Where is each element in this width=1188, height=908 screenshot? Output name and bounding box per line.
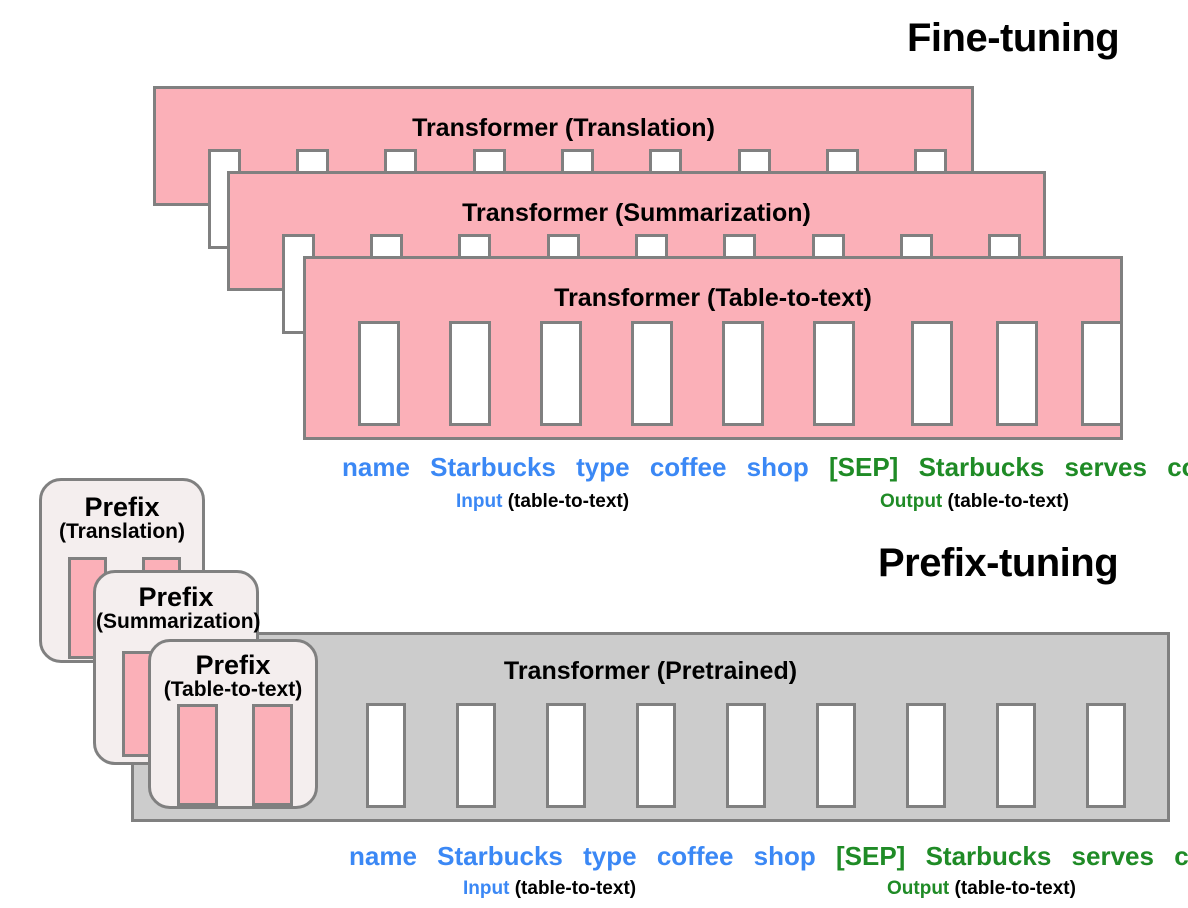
caption-input-rest: (table-to-text) (509, 878, 636, 899)
transformer-block-summarization-label: Transformer (Summarization) (230, 199, 1043, 228)
caption-output-rest: (table-to-text) (949, 878, 1076, 899)
transformer-block-translation-label: Transformer (Translation) (156, 114, 971, 143)
token-output: serves (1065, 452, 1147, 482)
caption-output-keyword: Output (887, 878, 949, 899)
prefix-task: (Translation) (42, 521, 202, 543)
activation-bar (816, 703, 856, 808)
caption-input-keyword: Input (456, 491, 502, 512)
activation-bar (636, 703, 676, 808)
token-input: type (583, 841, 636, 871)
prefix-task: (Summarization) (96, 611, 256, 633)
activation-bar (456, 703, 496, 808)
activation-bar (726, 703, 766, 808)
caption-input-fine-tuning: Input (table-to-text) (456, 491, 629, 513)
activation-bar (1086, 703, 1126, 808)
token-output: coffee (1167, 452, 1188, 482)
token-output: serves (1072, 841, 1154, 871)
token-output: Starbucks (926, 841, 1052, 871)
caption-input-rest: (table-to-text) (502, 491, 629, 512)
prefix-task: (Table-to-text) (151, 679, 315, 701)
token-input: type (576, 452, 629, 482)
prefix-box-table-to-text-label: Prefix (Table-to-text) (151, 651, 315, 701)
activation-bar (366, 703, 406, 808)
prefix-bar (252, 704, 293, 806)
token-input: coffee (657, 841, 734, 871)
activation-bar (722, 321, 764, 426)
caption-output-rest: (table-to-text) (942, 491, 1069, 512)
token-input: Starbucks (430, 452, 556, 482)
prefix-name: Prefix (96, 583, 256, 611)
activation-bar (996, 703, 1036, 808)
token-input: shop (747, 452, 809, 482)
fine-tuning-title: Fine-tuning (907, 16, 1119, 61)
prefix-tuning-title: Prefix-tuning (878, 541, 1118, 586)
token-row-fine-tuning: name Starbucks type coffee shop [SEP] St… (342, 452, 1188, 483)
caption-input-keyword: Input (463, 878, 509, 899)
prefix-box-translation-label: Prefix (Translation) (42, 493, 202, 543)
prefix-name: Prefix (151, 651, 315, 679)
prefix-box-summarization-label: Prefix (Summarization) (96, 583, 256, 633)
caption-output-keyword: Output (880, 491, 942, 512)
token-input: coffee (650, 452, 727, 482)
transformer-block-table-to-text: Transformer (Table-to-text) (303, 256, 1123, 440)
caption-output-prefix-tuning: Output (table-to-text) (887, 878, 1076, 900)
caption-output-fine-tuning: Output (table-to-text) (880, 491, 1069, 513)
token-input: name (342, 452, 410, 482)
activation-bar (996, 321, 1038, 426)
token-row-prefix-tuning: name Starbucks type coffee shop [SEP] St… (349, 841, 1188, 872)
token-input: shop (754, 841, 816, 871)
transformer-block-table-to-text-label: Transformer (Table-to-text) (306, 284, 1120, 313)
token-output: coffee (1174, 841, 1188, 871)
activation-bar (540, 321, 582, 426)
prefix-box-table-to-text: Prefix (Table-to-text) (148, 639, 318, 809)
token-output: [SEP] (836, 841, 905, 871)
prefix-name: Prefix (42, 493, 202, 521)
activation-bar (911, 321, 953, 426)
activation-bar (631, 321, 673, 426)
token-input: name (349, 841, 417, 871)
token-input: Starbucks (437, 841, 563, 871)
figure-canvas: Fine-tuning Transformer (Translation) Tr… (0, 0, 1188, 908)
activation-bar (1081, 321, 1123, 426)
activation-bar (449, 321, 491, 426)
caption-input-prefix-tuning: Input (table-to-text) (463, 878, 636, 900)
prefix-bar (177, 704, 218, 806)
activation-bar (358, 321, 400, 426)
activation-bar (813, 321, 855, 426)
token-output: Starbucks (919, 452, 1045, 482)
activation-bar (546, 703, 586, 808)
token-output: [SEP] (829, 452, 898, 482)
activation-bar (906, 703, 946, 808)
